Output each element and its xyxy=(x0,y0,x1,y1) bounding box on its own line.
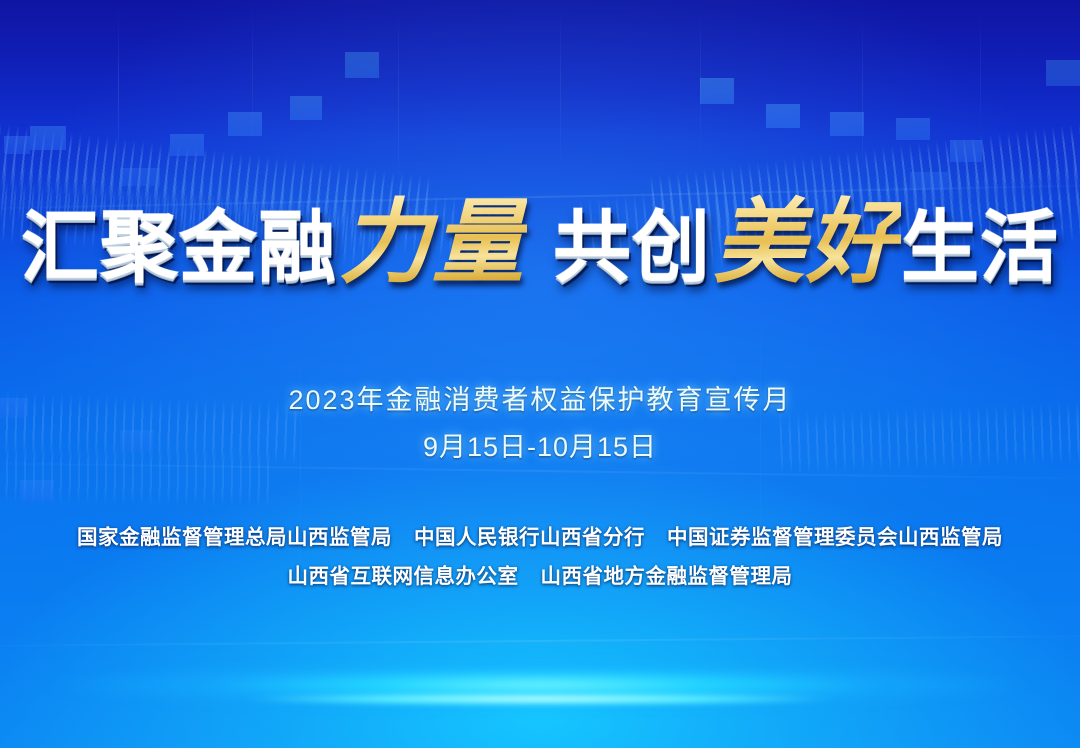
organizer-item: 中国证券监督管理委员会山西监管局 xyxy=(667,526,1003,549)
organizer-item: 山西省地方金融监督管理局 xyxy=(541,565,793,588)
organizer-item: 中国人民银行山西省分行 xyxy=(414,526,645,549)
headline-segment-5: 生活 xyxy=(901,203,1059,293)
headline: 汇聚金融力量共创美好生活 xyxy=(0,196,1080,288)
organizers: 国家金融监督管理总局山西监管局中国人民银行山西省分行中国证券监督管理委员会山西监… xyxy=(0,518,1080,596)
headline-segment-2-gold: 力量 xyxy=(337,188,527,296)
organizer-item: 山西省互联网信息办公室 xyxy=(288,565,519,588)
organizer-item: 国家金融监督管理总局山西监管局 xyxy=(77,526,392,549)
subtitle: 2023年金融消费者权益保护教育宣传月 xyxy=(0,378,1080,417)
organizer-line-1: 国家金融监督管理总局山西监管局中国人民银行山西省分行中国证券监督管理委员会山西监… xyxy=(0,518,1080,557)
date-range: 9月15日-10月15日 xyxy=(0,425,1080,464)
headline-segment-3: 共创 xyxy=(553,203,711,293)
headline-segment-1: 汇聚金融 xyxy=(21,203,337,293)
poster-content: 汇聚金融力量共创美好生活 2023年金融消费者权益保护教育宣传月 9月15日-1… xyxy=(0,0,1080,748)
poster-banner: 汇聚金融力量共创美好生活 2023年金融消费者权益保护教育宣传月 9月15日-1… xyxy=(0,0,1080,748)
organizer-line-2: 山西省互联网信息办公室山西省地方金融监督管理局 xyxy=(0,557,1080,596)
headline-segment-4-gold: 美好 xyxy=(711,188,901,296)
